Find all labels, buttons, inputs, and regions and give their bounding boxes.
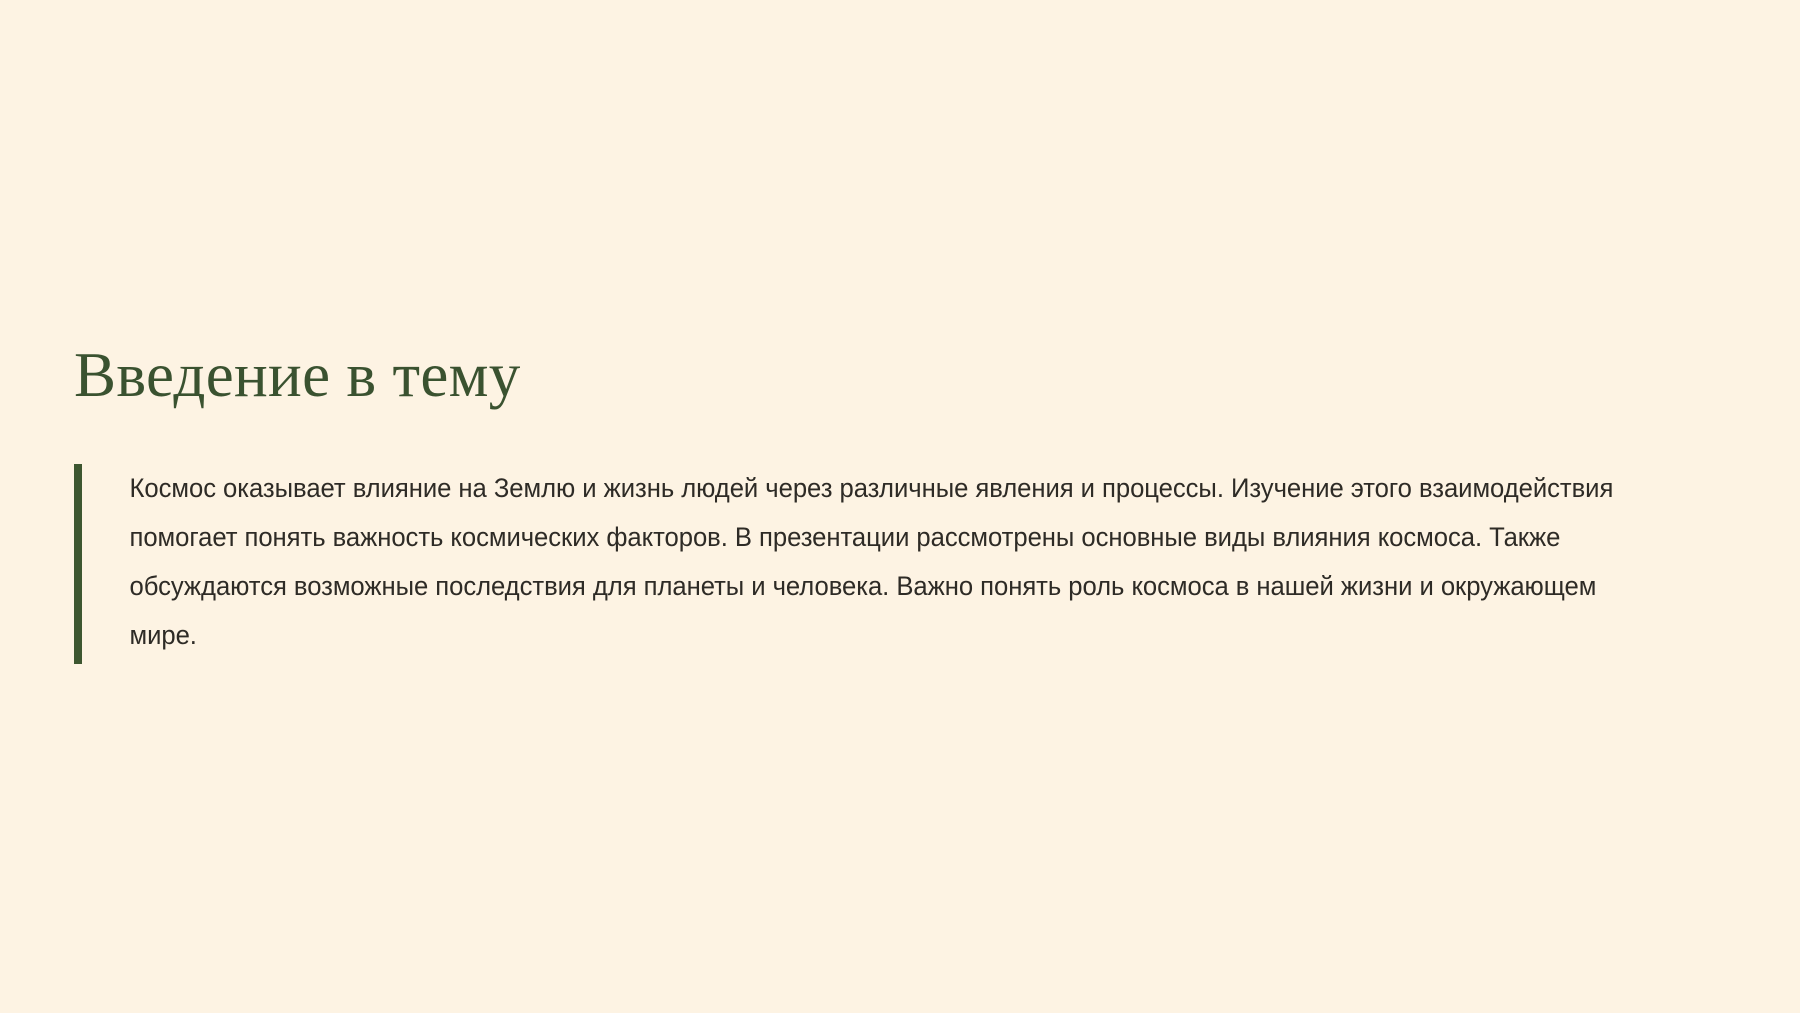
body-paragraph: Космос оказывает влияние на Землю и жизн… [82,464,1632,664]
accent-bar [74,464,82,664]
body-block: Космос оказывает влияние на Землю и жизн… [74,464,1714,664]
presentation-slide: Введение в тему Космос оказывает влияние… [0,0,1800,1013]
slide-title: Введение в тему [74,344,521,407]
